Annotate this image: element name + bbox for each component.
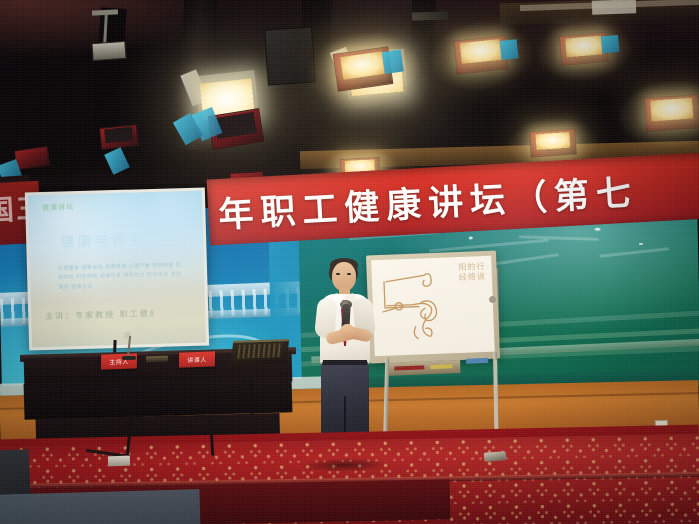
slide-footer: 主讲：专家教授 职工健康讲坛 bbox=[45, 308, 153, 324]
whiteboard-brand-label bbox=[466, 358, 488, 364]
speaker-shadow bbox=[300, 457, 390, 473]
speaker-head bbox=[332, 262, 356, 291]
microphone-stand-base bbox=[484, 451, 507, 462]
projection-screen: 健康讲坛 健康与养生 合理膳食 适量运动 戒烟限酒 心理平衡 控制体重 定期体检… bbox=[25, 188, 209, 351]
stage-light-fixture bbox=[559, 32, 609, 66]
mural-sparkle bbox=[469, 236, 473, 239]
name-placard: 讲课人 bbox=[179, 351, 215, 367]
slide-title: 健康讲坛 bbox=[42, 202, 74, 213]
auditorium-stage-photo: 国三 年职工健康讲坛（第七 健康讲坛 健康与养生 合理膳食 适量运动 戒烟限酒 … bbox=[0, 0, 699, 524]
stage-light-panel-dark bbox=[264, 26, 316, 85]
slide-heading: 健康与养生 bbox=[60, 231, 179, 251]
stage-light-fixture bbox=[453, 35, 508, 74]
stage-light-beam bbox=[460, 39, 502, 64]
stage-light-beam bbox=[535, 131, 571, 150]
stage-light-gel bbox=[499, 39, 519, 60]
stage-light-fixture bbox=[99, 124, 139, 150]
whiteboard-handwriting-line2: 经络说 bbox=[459, 272, 486, 283]
speaker-hand bbox=[340, 324, 355, 339]
gooseneck-microphone-base bbox=[122, 356, 136, 360]
stage-light-fixture bbox=[529, 128, 577, 157]
projected-slide: 健康讲坛 健康与养生 合理膳食 适量运动 戒烟限酒 心理平衡 控制体重 定期体检… bbox=[28, 191, 206, 348]
yellow-marker-icon bbox=[430, 364, 452, 369]
stage-light-gel bbox=[601, 35, 619, 53]
stage-light-gel bbox=[382, 50, 404, 74]
stage-light-fixture bbox=[333, 46, 394, 91]
ceiling-projector-icon bbox=[91, 41, 126, 61]
whiteboard-marker-tray bbox=[388, 360, 460, 376]
stage-monitor-grille bbox=[237, 343, 282, 359]
speaker-belt bbox=[323, 360, 367, 365]
power-strip-icon bbox=[108, 456, 130, 467]
name-placard-text: 讲课人 bbox=[187, 355, 207, 365]
speaker-eye bbox=[336, 273, 340, 275]
front-seat-block bbox=[0, 489, 201, 524]
stage-light-fixture bbox=[644, 94, 699, 132]
whiteboard-handwriting: 阳的行 经络说 bbox=[458, 262, 486, 284]
whiteboard-adjust-knob bbox=[489, 296, 496, 303]
slide-body: 合理膳食 适量运动 戒烟限酒 心理平衡 控制体重 定期体检 科学用药 规律作息 … bbox=[58, 261, 184, 293]
whiteboard-surface: 阳的行 经络说 bbox=[371, 256, 495, 357]
whiteboard: 阳的行 经络说 bbox=[366, 251, 500, 364]
laptop-icon bbox=[146, 356, 168, 363]
ceiling-vent bbox=[412, 11, 448, 20]
ceiling-box bbox=[592, 0, 636, 15]
stage-light-beam bbox=[651, 98, 693, 122]
stage-light-beam bbox=[565, 35, 603, 57]
speaker-eye bbox=[347, 273, 351, 275]
red-marker-icon bbox=[394, 365, 424, 370]
